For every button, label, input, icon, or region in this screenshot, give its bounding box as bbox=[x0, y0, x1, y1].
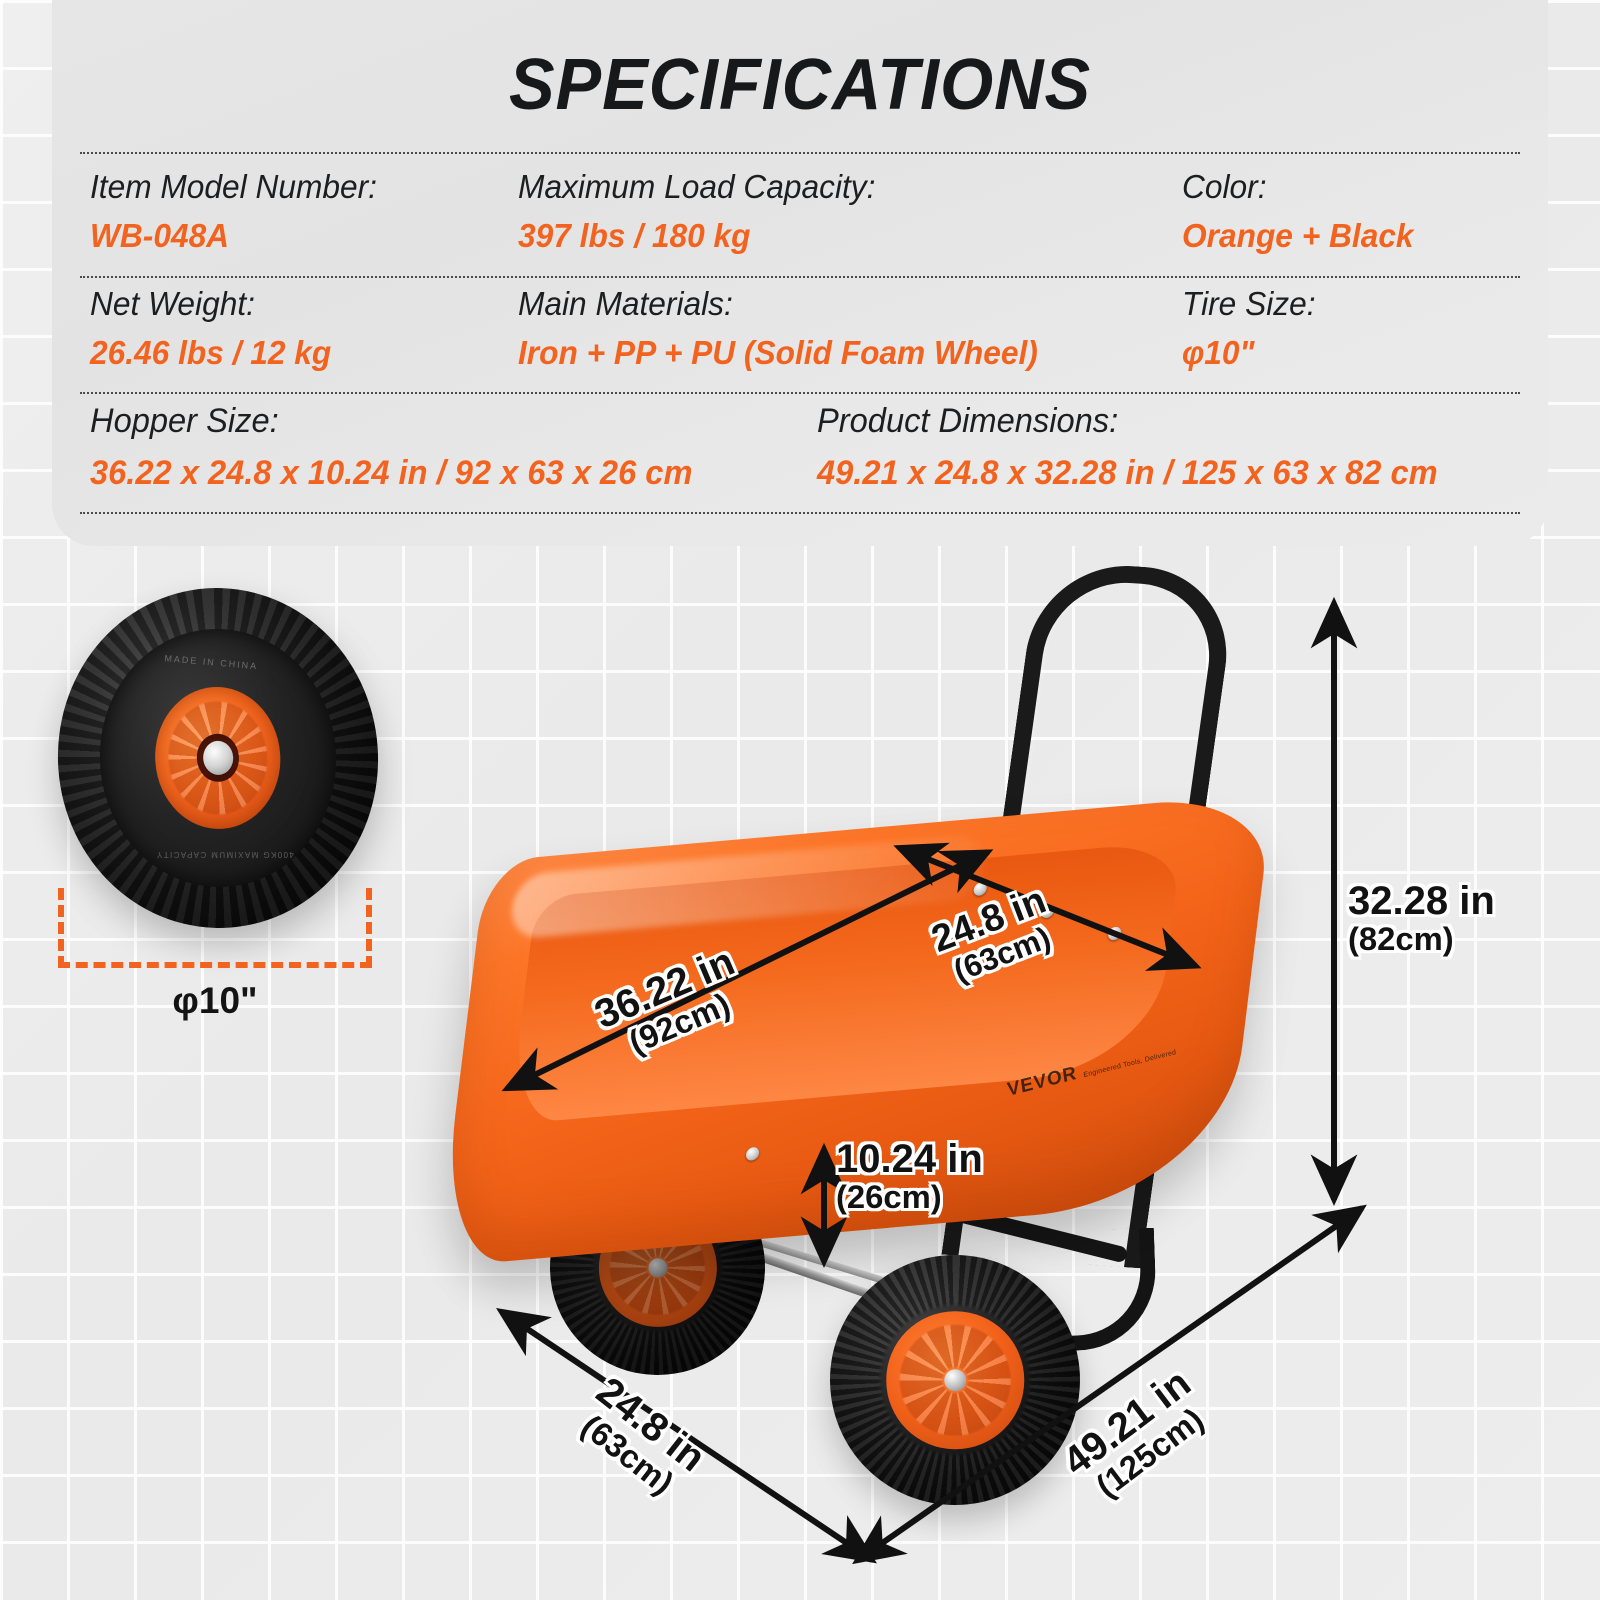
wheel-hub bbox=[886, 1311, 1024, 1449]
spec-value: 49.21 x 24.8 x 32.28 in / 125 x 63 x 82 … bbox=[817, 451, 1438, 495]
specifications-panel: SPECIFICATIONS Item Model Number: WB-048… bbox=[52, 0, 1548, 546]
divider-top bbox=[80, 152, 1520, 154]
spec-cell-tire-size: Tire Size: φ10" bbox=[1182, 283, 1321, 375]
dimension-label-overall-height: 32.28 in (82cm) bbox=[1348, 880, 1495, 956]
diameter-extension-right bbox=[366, 888, 372, 968]
spec-value: φ10" bbox=[1182, 332, 1316, 375]
spec-cell-color: Color: Orange + Black bbox=[1182, 166, 1423, 258]
spec-value: 26.46 lbs / 12 kg bbox=[90, 332, 331, 375]
value-metric: (82cm) bbox=[1348, 922, 1495, 956]
wheel-detail-illustration: MADE IN CHINA 400KG MAXIMUM CAPACITY φ10… bbox=[48, 588, 408, 1058]
spec-label: Product Dimensions: bbox=[817, 400, 1438, 443]
page-title: SPECIFICATIONS bbox=[89, 44, 1510, 126]
spec-value: Iron + PP + PU (Solid Foam Wheel) bbox=[518, 332, 1038, 375]
wheel-hub bbox=[150, 683, 285, 834]
value-imperial: 10.24 in bbox=[836, 1137, 983, 1181]
spec-value: Orange + Black bbox=[1182, 215, 1414, 258]
spec-cell-main-materials: Main Materials: Iron + PP + PU (Solid Fo… bbox=[518, 283, 1060, 375]
diameter-label: φ10" bbox=[48, 980, 382, 1022]
spec-cell-item-model-number: Item Model Number: WB-048A bbox=[90, 166, 389, 258]
spec-label: Main Materials: bbox=[518, 283, 1038, 324]
spec-value: WB-048A bbox=[90, 215, 377, 258]
diameter-extension-left bbox=[58, 888, 64, 968]
tire-molded-text-bottom: 400KG MAXIMUM CAPACITY bbox=[156, 850, 294, 859]
product-spec-infographic: SPECIFICATIONS Item Model Number: WB-048… bbox=[0, 0, 1600, 1600]
value-metric: (26cm) bbox=[836, 1180, 983, 1214]
tray-rivet bbox=[745, 1147, 760, 1161]
spec-label: Hopper Size: bbox=[90, 400, 692, 443]
wheelbarrow-cart-illustration: VEVOR Engineered Tools, Delivered bbox=[430, 540, 1380, 1540]
spec-cell-hopper-size: Hopper Size: 36.22 x 24.8 x 10.24 in / 9… bbox=[90, 400, 718, 495]
spec-label: Item Model Number: bbox=[90, 166, 377, 207]
tire-molded-text-top: MADE IN CHINA bbox=[164, 653, 259, 671]
spec-cell-maximum-load-capacity: Maximum Load Capacity: 397 lbs / 180 kg bbox=[518, 166, 890, 258]
value-imperial: 32.28 in bbox=[1348, 879, 1495, 923]
divider-bottom bbox=[80, 512, 1520, 514]
spec-label: Color: bbox=[1182, 166, 1414, 207]
spec-label: Net Weight: bbox=[90, 283, 331, 324]
spec-cell-net-weight: Net Weight: 26.46 lbs / 12 kg bbox=[90, 283, 341, 375]
hub-cap-icon bbox=[944, 1369, 966, 1391]
dimension-label-hopper-depth: 10.24 in (26cm) bbox=[836, 1138, 983, 1214]
spec-value: 36.22 x 24.8 x 10.24 in / 92 x 63 x 26 c… bbox=[90, 451, 692, 495]
spec-label: Tire Size: bbox=[1182, 283, 1316, 324]
spec-label: Maximum Load Capacity: bbox=[518, 166, 875, 207]
spec-cell-product-dimensions: Product Dimensions: 49.21 x 24.8 x 32.28… bbox=[817, 400, 1464, 495]
tire-icon: MADE IN CHINA 400KG MAXIMUM CAPACITY bbox=[47, 577, 390, 938]
cart-wheel-front bbox=[830, 1255, 1080, 1505]
diameter-dimension-line bbox=[58, 962, 372, 968]
divider-row1 bbox=[80, 276, 1520, 278]
hub-cap-icon bbox=[648, 1258, 667, 1277]
spec-value: 397 lbs / 180 kg bbox=[518, 215, 875, 258]
divider-row2 bbox=[80, 392, 1520, 394]
